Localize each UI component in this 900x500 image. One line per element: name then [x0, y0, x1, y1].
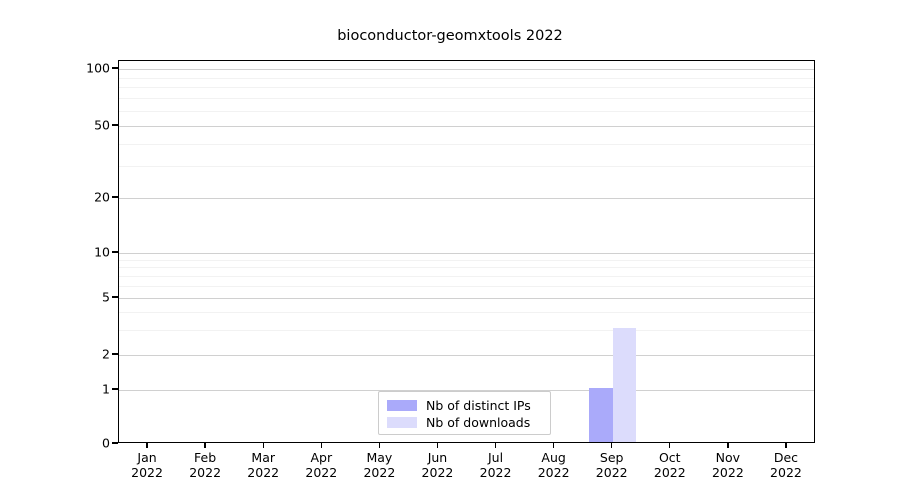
gridline [119, 198, 814, 199]
legend-item: Nb of distinct IPs [379, 397, 550, 414]
x-axis-tick-mark [727, 443, 728, 448]
bar [589, 388, 612, 442]
gridline [119, 126, 814, 127]
gridline [119, 286, 814, 287]
gridline [119, 330, 814, 331]
x-axis-tick-year: 2022 [746, 465, 826, 480]
legend-label: Nb of distinct IPs [426, 398, 531, 413]
gridline [119, 166, 814, 167]
gridline [119, 78, 814, 79]
bar [613, 328, 636, 442]
y-axis-tick-label: 5 [66, 290, 110, 305]
x-axis-tick-mark [379, 443, 380, 448]
y-axis-tick-label: 2 [66, 347, 110, 362]
y-axis-tick-label: 100 [66, 61, 110, 76]
x-axis-tick-mark [437, 443, 438, 448]
x-axis-tick-label: Dec2022 [746, 450, 826, 480]
x-axis-tick-mark [263, 443, 264, 448]
gridline [119, 98, 814, 99]
legend-item: Nb of downloads [379, 414, 550, 431]
y-axis-tick-label: 0 [66, 436, 110, 451]
x-axis-tick-mark [146, 443, 147, 448]
x-axis-tick-mark [669, 443, 670, 448]
y-axis-tick-label: 50 [66, 118, 110, 133]
gridline [119, 253, 814, 254]
gridline [119, 355, 814, 356]
y-axis-tick-label: 20 [66, 190, 110, 205]
x-axis-tick-mark [204, 443, 205, 448]
gridline [119, 298, 814, 299]
gridline [119, 267, 814, 268]
chart-title: bioconductor-geomxtools 2022 [0, 28, 900, 44]
gridline [119, 111, 814, 112]
chart-figure: bioconductor-geomxtools 2022 01251020501… [0, 0, 900, 500]
gridline [119, 69, 814, 70]
gridline [119, 276, 814, 277]
gridline [119, 144, 814, 145]
legend-swatch [387, 400, 417, 411]
x-axis-tick-mark [785, 443, 786, 448]
legend-label: Nb of downloads [426, 415, 530, 430]
x-axis-tick-month: Dec [746, 450, 826, 465]
x-axis-tick-mark [553, 443, 554, 448]
gridline [119, 260, 814, 261]
chart-legend: Nb of distinct IPsNb of downloads [378, 391, 551, 435]
y-axis-labels: 0125102050100 [62, 0, 110, 500]
gridline [119, 87, 814, 88]
y-axis-tick-label: 1 [66, 382, 110, 397]
x-axis-tick-mark [611, 443, 612, 448]
y-axis-tick-label: 10 [66, 245, 110, 260]
plot-area [118, 60, 815, 443]
x-axis-tick-mark [495, 443, 496, 448]
legend-swatch [387, 417, 417, 428]
x-axis-tick-mark [321, 443, 322, 448]
gridline [119, 312, 814, 313]
